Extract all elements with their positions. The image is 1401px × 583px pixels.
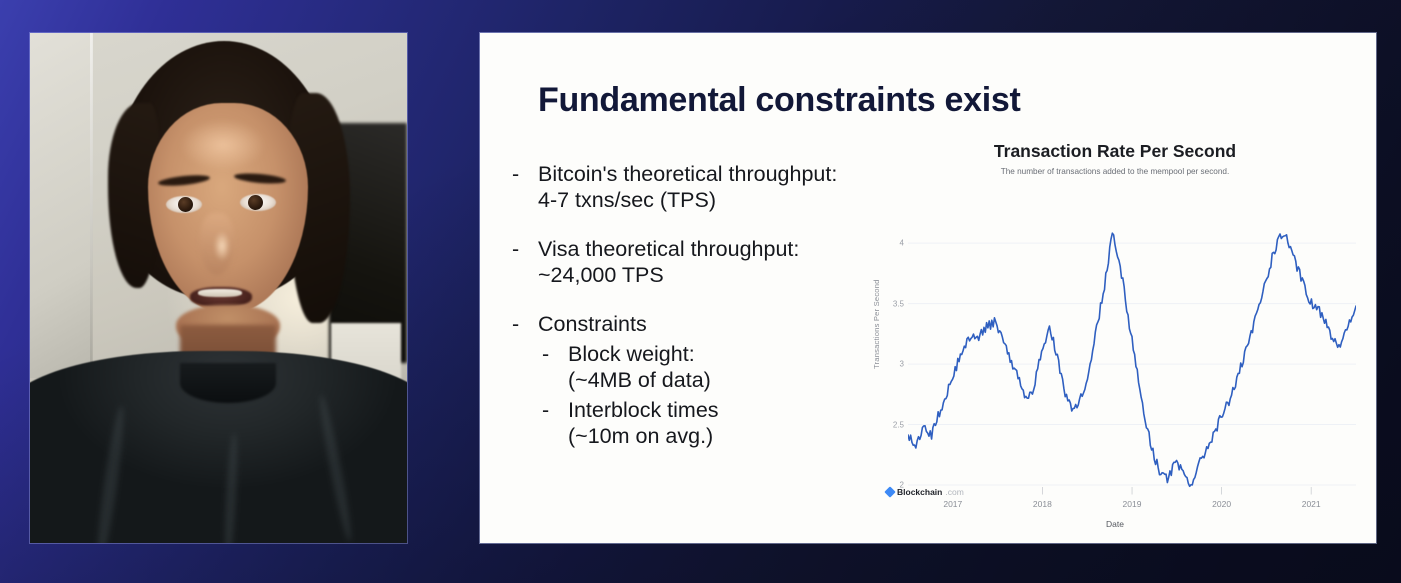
sub-bullet-text: (~4MB of data) bbox=[568, 367, 912, 393]
chart-x-tick-label: 2018 bbox=[1033, 499, 1052, 509]
bullet-marker: - bbox=[512, 161, 538, 187]
presenter-video-tile[interactable] bbox=[30, 33, 407, 543]
chart-y-tick-label: 4 bbox=[874, 239, 904, 248]
blockchain-diamond-icon bbox=[884, 486, 895, 497]
chart-y-axis-label: Transactions Per Second bbox=[872, 279, 881, 369]
chart-x-axis-label: Date bbox=[870, 519, 1360, 529]
chart-gridlines bbox=[908, 243, 1356, 485]
presenter-pupil-right bbox=[248, 195, 263, 210]
chart-x-tick-mark: | bbox=[1041, 486, 1043, 495]
chart-x-tick-mark: | bbox=[1310, 486, 1312, 495]
slide-surface[interactable]: Fundamental constraints exist - Bitcoin'… bbox=[480, 33, 1376, 543]
sub-bullet-text: Interblock times bbox=[568, 397, 912, 423]
presenter-teeth bbox=[198, 289, 242, 297]
transaction-rate-chart[interactable]: Transaction Rate Per Second The number o… bbox=[870, 141, 1360, 531]
sub-bullet-text: Block weight: bbox=[568, 341, 912, 367]
chart-title: Transaction Rate Per Second bbox=[870, 141, 1360, 162]
chart-y-tick-label: 3.5 bbox=[874, 299, 904, 308]
watermark-brand: Blockchain bbox=[897, 487, 942, 497]
chart-x-tick-label: 2021 bbox=[1302, 499, 1321, 509]
slide-title: Fundamental constraints exist bbox=[538, 81, 1021, 120]
chart-x-tick-mark: | bbox=[1221, 486, 1223, 495]
presenter-nose-highlight bbox=[214, 231, 230, 261]
webcam-background-wall-edge bbox=[90, 33, 93, 363]
bullet-item: - Constraints - Block weight: (~4MB of d… bbox=[512, 311, 912, 449]
bullet-item: - Bitcoin's theoretical throughput: 4-7 … bbox=[512, 161, 912, 213]
bullet-text: ~24,000 TPS bbox=[538, 262, 912, 288]
bullet-text: Constraints bbox=[538, 311, 912, 337]
chart-x-tick-label: 2020 bbox=[1212, 499, 1231, 509]
webcam-background-wall-left bbox=[30, 33, 92, 378]
sub-bullet-item: - Block weight: (~4MB of data) bbox=[542, 341, 912, 393]
presenter-collar bbox=[180, 363, 276, 403]
bullet-marker: - bbox=[512, 311, 538, 337]
chart-subtitle: The number of transactions added to the … bbox=[870, 167, 1360, 176]
presenter-forehead-highlight bbox=[180, 119, 266, 171]
chart-y-tick-label: 2.5 bbox=[874, 420, 904, 429]
sub-bullet-text: (~10m on avg.) bbox=[568, 423, 912, 449]
bullet-item: - Visa theoretical throughput: ~24,000 T… bbox=[512, 236, 912, 288]
bullet-text: Visa theoretical throughput: bbox=[538, 236, 912, 262]
sub-bullet-item: - Interblock times (~10m on avg.) bbox=[542, 397, 912, 449]
chart-x-tick-mark: | bbox=[1131, 486, 1133, 495]
presentation-viewport: Fundamental constraints exist - Bitcoin'… bbox=[0, 0, 1401, 583]
chart-plot-area bbox=[908, 219, 1356, 491]
chart-y-tick-label: 3 bbox=[874, 360, 904, 369]
sub-bullet-marker: - bbox=[542, 397, 568, 423]
blockchain-watermark: Blockchain .com bbox=[886, 487, 964, 497]
slide-bullet-list: - Bitcoin's theoretical throughput: 4-7 … bbox=[512, 161, 912, 449]
watermark-tld: .com bbox=[945, 487, 963, 497]
presenter-pupil-left bbox=[178, 197, 193, 212]
bullet-marker: - bbox=[512, 236, 538, 262]
chart-x-tick-label: 2017 bbox=[943, 499, 962, 509]
chart-series-line bbox=[908, 233, 1356, 486]
bullet-text: 4-7 txns/sec (TPS) bbox=[538, 187, 912, 213]
chart-line-svg bbox=[908, 219, 1356, 491]
chart-x-tick-label: 2019 bbox=[1123, 499, 1142, 509]
sub-bullet-marker: - bbox=[542, 341, 568, 367]
bullet-text: Bitcoin's theoretical throughput: bbox=[538, 161, 912, 187]
